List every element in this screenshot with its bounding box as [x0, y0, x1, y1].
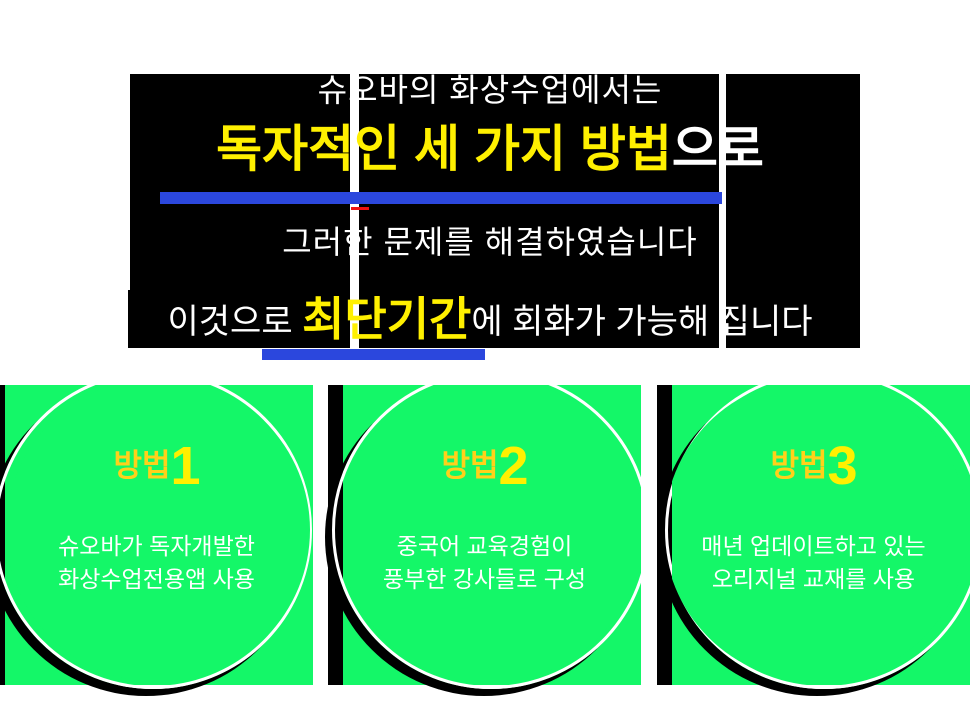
- method-cards-row: 방법1 슈오바가 독자개발한 화상수업전용앱 사용 방법2 중국어 교육경험이 …: [0, 385, 980, 692]
- card-heading: 방법1: [0, 439, 313, 493]
- header-line-4: 이것으로 최단기간에 회화가 가능해 집니다: [0, 296, 980, 342]
- header-line-4-highlight: 최단기간: [302, 293, 471, 345]
- header-line-2-highlight: 독자적인 세 가지 방법: [216, 121, 672, 177]
- header-line-2-tail: 으로: [672, 121, 764, 177]
- card-body-line-2: 화상수업전용앱 사용: [0, 563, 313, 596]
- header-line-3: 그러한 문제를 해결하였습니다: [0, 226, 980, 258]
- card-label: 방법: [441, 448, 498, 483]
- card-content: 방법1 슈오바가 독자개발한 화상수업전용앱 사용: [0, 385, 313, 685]
- header-banner: 슈오바의 화상수업에서는 독자적인 세 가지 방법으로 그러한 문제를 해결하였…: [0, 0, 980, 380]
- header-line-1: 슈오바의 화상수업에서는: [0, 74, 980, 106]
- card-body: 슈오바가 독자개발한 화상수업전용앱 사용: [0, 530, 313, 597]
- header-line-4-post: 에 회화가 가능해 집니다: [471, 303, 812, 341]
- header-line-2: 독자적인 세 가지 방법으로: [0, 124, 980, 174]
- card-body-line-1: 매년 업데이트하고 있는: [657, 530, 970, 563]
- method-card-3[interactable]: 방법3 매년 업데이트하고 있는 오리지널 교재를 사용: [657, 385, 970, 685]
- card-body-line-2: 오리지널 교재를 사용: [657, 563, 970, 596]
- card-body-line-1: 중국어 교육경험이: [328, 530, 641, 563]
- card-content: 방법2 중국어 교육경험이 풍부한 강사들로 구성: [328, 385, 641, 685]
- card-label: 방법: [770, 448, 827, 483]
- blue-underline-bottom: [262, 349, 485, 360]
- card-body-line-2: 풍부한 강사들로 구성: [328, 563, 641, 596]
- card-heading: 방법2: [328, 439, 641, 493]
- card-content: 방법3 매년 업데이트하고 있는 오리지널 교재를 사용: [657, 385, 970, 685]
- card-label: 방법: [113, 448, 170, 483]
- card-body: 중국어 교육경험이 풍부한 강사들로 구성: [328, 530, 641, 597]
- card-body: 매년 업데이트하고 있는 오리지널 교재를 사용: [657, 530, 970, 597]
- method-card-1[interactable]: 방법1 슈오바가 독자개발한 화상수업전용앱 사용: [0, 385, 313, 685]
- red-tick-marker: [351, 207, 369, 210]
- blue-underline-top: [160, 192, 722, 204]
- header-line-4-pre: 이것으로: [168, 303, 303, 341]
- card-number: 2: [499, 436, 528, 496]
- card-number: 3: [828, 436, 857, 496]
- method-card-2[interactable]: 방법2 중국어 교육경험이 풍부한 강사들로 구성: [328, 385, 641, 685]
- card-heading: 방법3: [657, 439, 970, 493]
- card-number: 1: [171, 436, 200, 496]
- card-body-line-1: 슈오바가 독자개발한: [0, 530, 313, 563]
